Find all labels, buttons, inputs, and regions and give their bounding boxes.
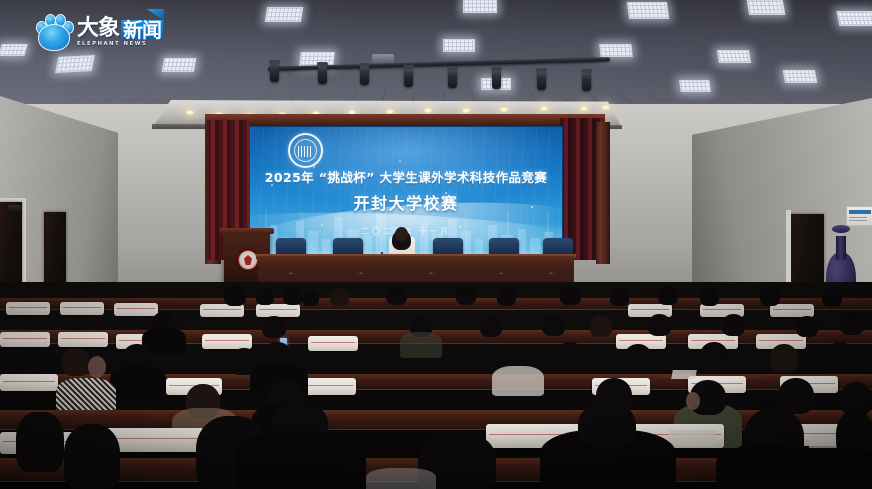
vase-neck	[836, 236, 846, 260]
stage-wood-panel-right	[596, 122, 610, 264]
seat-headrest-cover	[6, 302, 50, 315]
audience-member-head	[700, 342, 728, 370]
soffit-downlight	[462, 108, 470, 113]
audience-member-head	[700, 288, 719, 306]
audience-member-torso	[236, 432, 366, 489]
audience-member-head	[590, 316, 612, 337]
elephant-news-logo: 大象 新闻 ELEPHANT NEWS	[33, 12, 163, 52]
paper-handout	[667, 430, 718, 446]
seated-audience	[0, 282, 872, 489]
ceiling-panel-light	[443, 39, 475, 52]
audience-member-head	[262, 316, 286, 338]
seat-headrest-cover	[0, 374, 58, 391]
podium-crest-icon	[238, 250, 258, 270]
logo-brand-main: 大象	[77, 18, 119, 40]
stage-spotlight	[537, 71, 546, 90]
audience-member-head	[283, 286, 303, 305]
stage-header-wood-trim	[205, 114, 605, 126]
ceiling-panel-light	[717, 50, 751, 63]
screenshot-root: 2025年 “挑战杯” 大学生课外学术科技作品竞赛 开封大学校赛 二〇二五年 十…	[0, 0, 872, 489]
screen-title-line1: 2025年 “挑战杯” 大学生课外学术科技作品竞赛	[250, 167, 562, 186]
audience-member-head	[826, 342, 854, 370]
seat-headrest-cover	[256, 304, 300, 317]
audience-member-head	[624, 344, 652, 372]
university-emblem-icon	[288, 133, 323, 168]
audience-member-head	[658, 286, 678, 305]
stage-spotlight	[270, 63, 279, 82]
audience-member-head	[556, 342, 584, 370]
audience-member-torso	[492, 366, 544, 396]
soffit-downlight	[602, 105, 610, 110]
paper-handout	[671, 370, 697, 379]
ceiling-panel-light	[627, 2, 669, 19]
ceiling-panel-light	[265, 7, 303, 22]
audience-member-head	[578, 402, 636, 448]
logo-wordmark: 大象 新闻 ELEPHANT NEWS	[77, 13, 163, 51]
audience-member-torso	[56, 378, 116, 412]
audience-member-head	[542, 314, 565, 336]
audience-member-head	[330, 288, 349, 306]
screen-title-line2: 开封大学校赛	[250, 190, 562, 214]
paw-pad	[38, 24, 70, 51]
stage-spotlight	[404, 68, 413, 87]
stage-spotlight	[582, 72, 591, 91]
ceiling-panel-light	[55, 55, 95, 73]
elephant-paw-icon	[33, 12, 73, 52]
audience-member-head	[480, 316, 502, 337]
audience-member-head	[302, 290, 319, 306]
podium-top-surface	[220, 228, 274, 234]
audience-member-head	[822, 288, 842, 307]
stage-spotlight	[448, 69, 457, 88]
exit-sign-left	[8, 205, 21, 211]
seat-headrest-cover	[202, 334, 252, 349]
seat-headrest-cover	[114, 303, 158, 316]
audience-member-head	[386, 286, 407, 305]
soffit-downlight	[424, 108, 432, 113]
ceiling-panel-light	[463, 0, 497, 13]
ceiling-panel-light	[0, 44, 28, 56]
audience-member-head	[722, 314, 745, 336]
soffit-downlight	[580, 106, 588, 111]
audience-member-head	[64, 424, 120, 489]
audience-member-head	[62, 348, 90, 376]
audience-member-face	[686, 392, 700, 410]
presenter-head	[395, 227, 408, 241]
seat-headrest-cover	[60, 302, 104, 315]
stage-spotlight	[360, 66, 369, 85]
audience-member-torso	[366, 468, 436, 489]
ceiling-panel-light	[679, 80, 711, 92]
audience-member-head	[16, 412, 64, 472]
audience-member-head	[560, 286, 581, 305]
ceiling-panel-light	[747, 0, 786, 15]
audience-member-head	[497, 288, 516, 306]
soffit-downlight	[186, 110, 194, 115]
seat-headrest-cover	[0, 332, 50, 347]
soffit-downlight	[500, 107, 508, 112]
stage-spotlight	[318, 65, 327, 84]
audience-member-head	[456, 286, 476, 305]
ceiling-panel-light	[783, 70, 818, 83]
audience-member-face	[88, 356, 106, 378]
audience-member-head	[840, 312, 864, 335]
wall-notice-plaque	[846, 206, 872, 226]
audience-member-head	[648, 314, 671, 336]
stage-spotlight	[492, 70, 501, 89]
logo-wordmark-row: 大象 新闻	[77, 18, 163, 40]
logo-flag-shape	[147, 9, 164, 21]
audience-member-head	[224, 286, 246, 306]
audience-member-head	[770, 344, 798, 372]
audience-member-head	[256, 288, 274, 305]
audience-member-torso	[110, 366, 166, 398]
audience-member-head	[796, 316, 818, 337]
logo-brand-english: ELEPHANT NEWS	[77, 41, 163, 47]
ceiling-panel-light	[162, 58, 197, 72]
seat-headrest-cover	[58, 332, 108, 347]
audience-member-torso	[400, 332, 442, 358]
audience-member-head	[760, 287, 780, 306]
ceiling-panel-light	[836, 11, 872, 26]
audience-member-head	[610, 288, 629, 306]
audience-member-torso	[716, 446, 826, 489]
soffit-downlight	[540, 106, 548, 111]
audience-member-torso	[818, 448, 872, 489]
seat-headrest-cover	[300, 378, 356, 395]
logo-brand-accent: 新闻	[121, 20, 163, 40]
seat-headrest-cover	[308, 336, 358, 351]
ceiling-panel-light	[599, 44, 632, 57]
vase-rim	[832, 225, 850, 233]
